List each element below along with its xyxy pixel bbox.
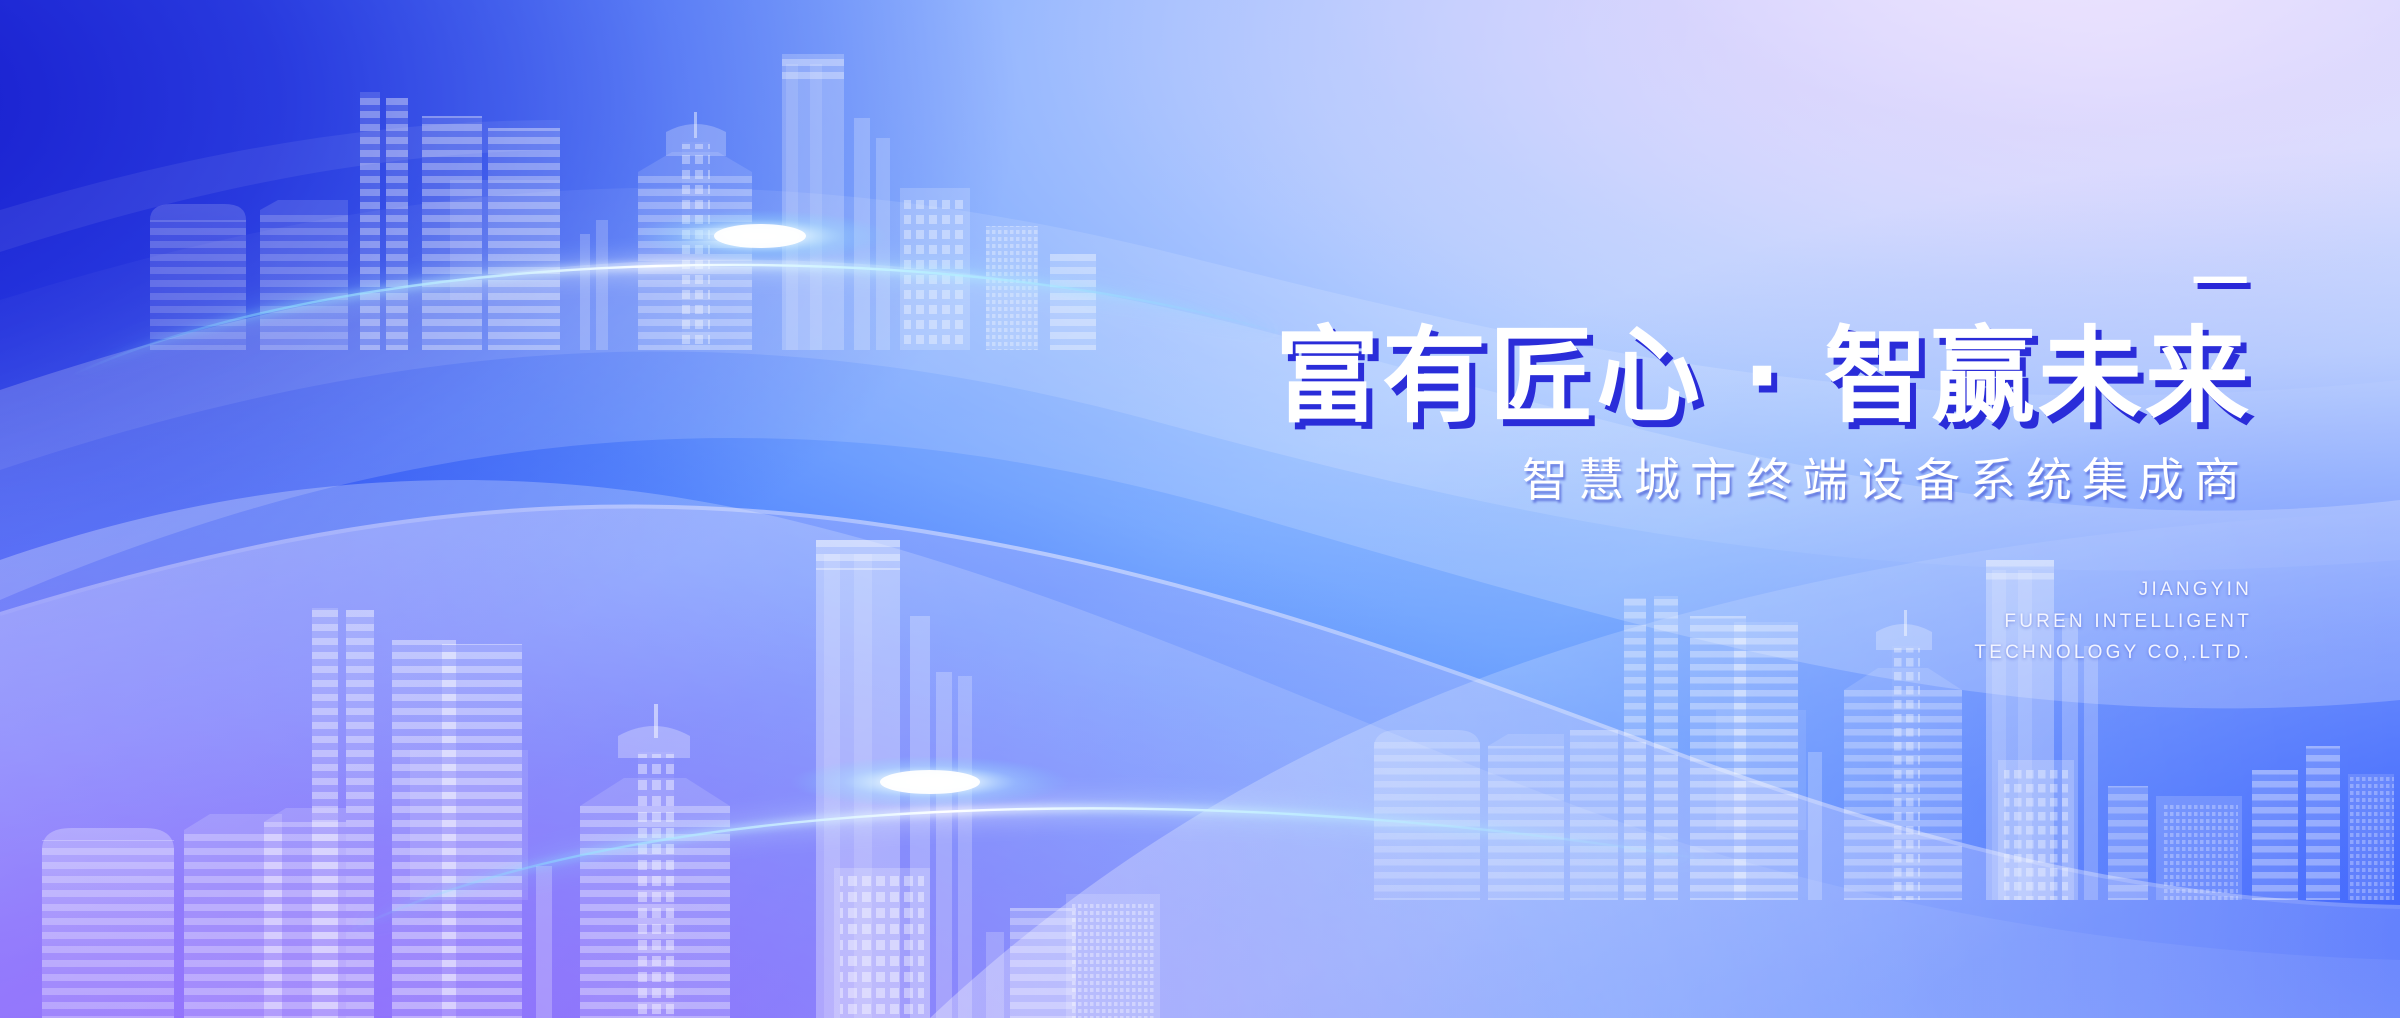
company-line-suffix: TECHNOLOGY CO,.LTD. <box>1052 637 2252 668</box>
company-name-block: JIANGYIN FUREN INTELLIGENT TECHNOLOGY CO… <box>1052 574 2252 668</box>
page-subtitle: 智慧城市终端设备系统集成商 <box>1052 453 2252 508</box>
page-title: 富有匠心 · 智赢未来 <box>1052 321 2252 431</box>
company-line-name: FUREN INTELLIGENT <box>1052 606 2252 637</box>
headline-block: 一 富有匠心 · 智赢未来 智慧城市终端设备系统集成商 JIANGYIN FUR… <box>1052 255 2252 668</box>
hero-banner: 一 富有匠心 · 智赢未来 智慧城市终端设备系统集成商 JIANGYIN FUR… <box>0 0 2400 1018</box>
company-line-city: JIANGYIN <box>1052 574 2252 605</box>
skyline-top-left <box>110 20 1160 350</box>
skyline-bottom-left <box>0 540 1160 1018</box>
accent-dash: 一 <box>1052 255 2248 295</box>
